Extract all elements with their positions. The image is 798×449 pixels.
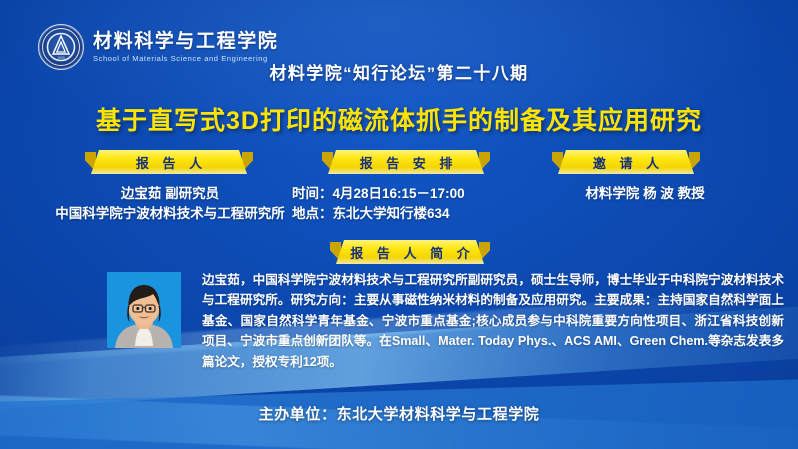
inviter-name-title: 材料学院 杨 波 教授: [500, 184, 790, 204]
speaker-info: 边宝茹 副研究员 中国科学院宁波材料技术与工程研究所: [0, 184, 340, 224]
banner-label-inviter: 邀 请 人: [588, 153, 664, 172]
seminar-poster: 1925 材料科学与工程学院 School of Materials Scien…: [0, 0, 798, 449]
banner-plate: 报 告 人 简 介: [336, 240, 484, 264]
banner-label-bio: 报 告 人 简 介: [345, 243, 474, 262]
banner-label-speaker: 报 告 人: [131, 153, 207, 172]
speaker-portrait-photo: [107, 272, 181, 348]
banner-plate: 邀 请 人: [558, 150, 694, 174]
poster-main-title: 基于直写式3D打印的磁流体抓手的制备及其应用研究: [0, 101, 798, 137]
section-banner-inviter: 邀 请 人: [552, 150, 700, 174]
school-logo-text: 材料科学与工程学院 School of Materials Science an…: [93, 32, 278, 63]
speaker-affiliation: 中国科学院宁波材料技术与工程研究所: [0, 204, 340, 224]
schedule-location: 地点：东北大学知行楼634: [292, 204, 540, 224]
poster-subtitle: 材料学院“知行论坛”第二十八期: [0, 59, 798, 84]
section-banner-bio: 报 告 人 简 介: [330, 240, 490, 264]
speaker-bio-text: 边宝茹，中国科学院宁波材料技术与工程研究所副研究员，硕士生导师，博士毕业于中科院…: [202, 270, 784, 372]
organizer-footer: 主办单位：东北大学材料科学与工程学院: [0, 403, 798, 424]
section-banner-schedule: 报 告 安 排: [322, 150, 490, 174]
school-name-cn: 材料科学与工程学院: [93, 32, 278, 51]
section-banner-speaker: 报 告 人: [85, 150, 253, 174]
banner-plate: 报 告 人: [91, 150, 247, 174]
banner-plate: 报 告 安 排: [328, 150, 484, 174]
speaker-name-title: 边宝茹 副研究员: [0, 184, 340, 204]
banner-label-schedule: 报 告 安 排: [355, 153, 458, 172]
inviter-info: 材料学院 杨 波 教授: [500, 184, 790, 204]
